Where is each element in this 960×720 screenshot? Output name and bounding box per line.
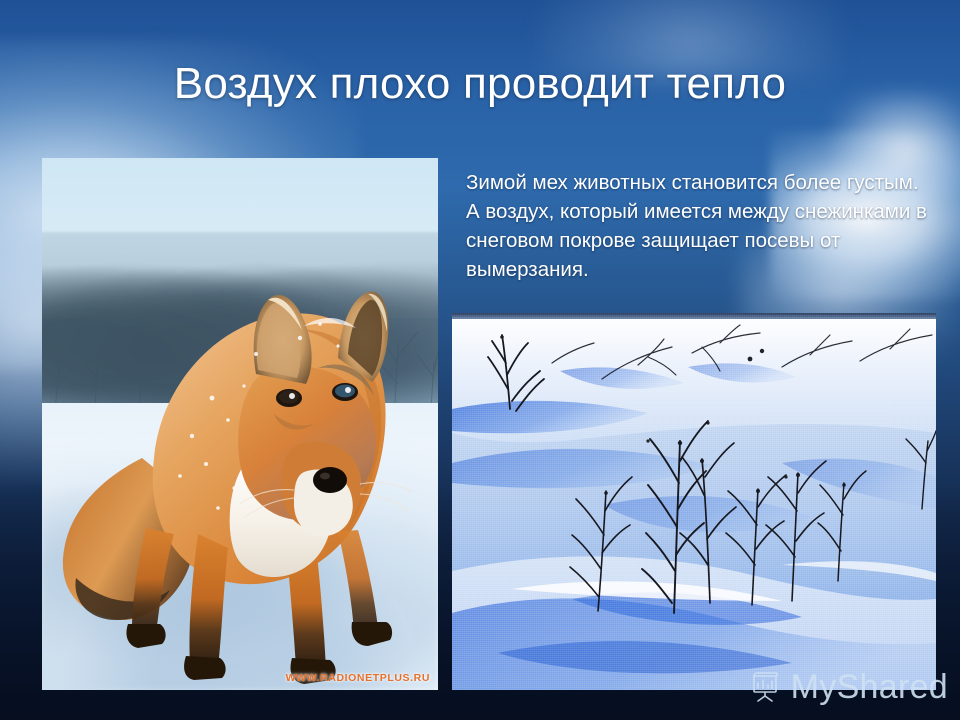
slide-body-text: Зимой мех животных становится более густ… [466,168,936,284]
snow-photo-texture [452,313,936,690]
myshared-brand-text: MyShared [791,670,948,704]
presentation-chart-icon [749,670,783,704]
fox-photo-watermark: WWW.RADIONETPLUS.RU [286,672,430,684]
fox-photo: WWW.RADIONETPLUS.RU [42,158,438,690]
snow-field-photo [452,313,936,690]
slide-title: Воздух плохо проводит тепло [0,60,960,108]
fox-illustration [42,158,438,690]
myshared-watermark: MyShared [749,670,948,704]
presentation-slide: Воздух плохо проводит тепло Зимой мех жи… [0,0,960,720]
